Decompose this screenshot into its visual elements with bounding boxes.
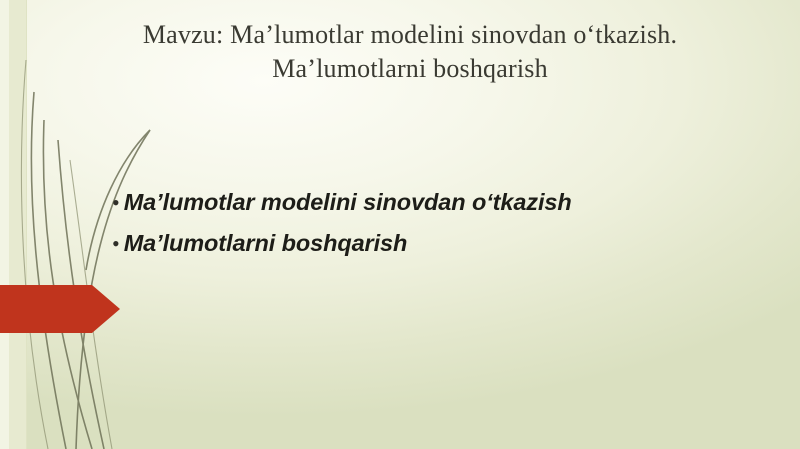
slide-title: Mavzu: Ma’lumotlar modelini sinovdan o‘t… bbox=[60, 18, 760, 87]
slide-bullet-list: • Ma’lumotlar modelini sinovdan o‘tkazis… bbox=[112, 188, 752, 271]
slide-canvas: Mavzu: Ma’lumotlar modelini sinovdan o‘t… bbox=[0, 0, 800, 449]
slide-title-line-2: Ma’lumotlarni boshqarish bbox=[60, 52, 760, 86]
left-vertical-band bbox=[0, 0, 27, 449]
list-item: • Ma’lumotlar modelini sinovdan o‘tkazis… bbox=[112, 188, 752, 217]
red-arrow-banner bbox=[0, 285, 120, 333]
bullet-dot-icon: • bbox=[112, 192, 120, 214]
bullet-dot-icon: • bbox=[112, 233, 120, 255]
list-item-label: Ma’lumotlar modelini sinovdan o‘tkazish bbox=[124, 188, 572, 217]
left-vertical-band-highlight bbox=[0, 0, 9, 449]
list-item-label: Ma’lumotlarni boshqarish bbox=[124, 229, 408, 258]
list-item: • Ma’lumotlarni boshqarish bbox=[112, 229, 752, 258]
slide-title-line-1: Mavzu: Ma’lumotlar modelini sinovdan o‘t… bbox=[60, 18, 760, 52]
